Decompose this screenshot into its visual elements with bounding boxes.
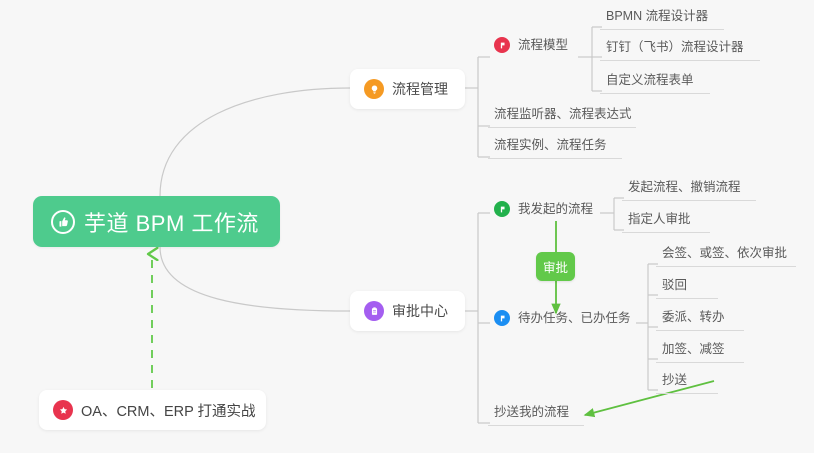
branch-node-shenpi-zhongxin[interactable]: 审批中心 (350, 291, 465, 331)
leaf-start-cancel-process[interactable]: 发起流程、撤销流程 (622, 180, 756, 201)
note-label-oa-crm-erp: OA、CRM、ERP 打通实战 (81, 400, 256, 421)
flag-icon (494, 201, 510, 217)
leaf-label-add-remove-sign: 加签、减签 (662, 343, 725, 357)
leaf-label-bpmn-designer: BPMN 流程设计器 (606, 10, 708, 24)
flag-icon (494, 37, 510, 53)
lightbulb-icon (364, 79, 384, 99)
leaf-liucheng-moxing[interactable]: 流程模型 (492, 41, 574, 58)
leaf-my-started-process[interactable]: 我发起的流程 (492, 205, 599, 222)
root-label: 芋道 BPM 工作流 (84, 206, 259, 238)
leaf-label-listener-expression: 流程监听器、流程表达式 (494, 108, 632, 122)
leaf-reject[interactable]: 驳回 (656, 278, 718, 299)
thumbs-up-icon (51, 210, 75, 234)
leaf-dingding-feishu-designer[interactable]: 钉钉（飞书）流程设计器 (600, 39, 760, 61)
leaf-label-custom-process-form: 自定义流程表单 (606, 74, 694, 88)
leaf-cc-my-process[interactable]: 抄送我的流程 (488, 405, 584, 426)
leaf-cc[interactable]: 抄送 (656, 373, 718, 394)
note-node-oa-crm-erp[interactable]: OA、CRM、ERP 打通实战 (39, 390, 266, 430)
leaf-add-remove-sign[interactable]: 加签、减签 (656, 342, 744, 363)
leaf-label-delegate-transfer: 委派、转办 (662, 311, 725, 325)
mindmap-canvas: 芋道 BPM 工作流 流程管理 流程模型 BPMN 流程设计器 钉钉（飞书）流程… (0, 0, 814, 453)
leaf-todo-done-task[interactable]: 待办任务、已办任务 (492, 314, 637, 331)
branch-label-liucheng-guanli: 流程管理 (392, 79, 448, 99)
leaf-label-cc: 抄送 (662, 374, 687, 388)
leaf-custom-process-form[interactable]: 自定义流程表单 (600, 72, 710, 94)
branch-label-shenpi-zhongxin: 审批中心 (392, 301, 448, 321)
wire-root-to-liucheng-guanli (160, 88, 350, 196)
clipboard-icon (364, 301, 384, 321)
leaf-label-cc-my-process: 抄送我的流程 (494, 406, 569, 420)
flag-icon (494, 310, 510, 326)
leaf-listener-expression[interactable]: 流程监听器、流程表达式 (488, 106, 636, 128)
leaf-label-dingding-feishu-designer: 钉钉（飞书）流程设计器 (606, 41, 744, 55)
leaf-label-start-cancel-process: 发起流程、撤销流程 (628, 181, 741, 195)
root-node[interactable]: 芋道 BPM 工作流 (33, 196, 280, 247)
leaf-countersign[interactable]: 会签、或签、依次审批 (656, 246, 796, 267)
approval-pill-label: 审批 (543, 257, 568, 276)
leaf-assignee-approval[interactable]: 指定人审批 (622, 212, 710, 233)
leaf-delegate-transfer[interactable]: 委派、转办 (656, 310, 744, 331)
leaf-instance-task[interactable]: 流程实例、流程任务 (488, 137, 622, 159)
leaf-label-countersign: 会签、或签、依次审批 (662, 247, 787, 261)
leaf-label-assignee-approval: 指定人审批 (628, 213, 691, 227)
leaf-label-liucheng-moxing: 流程模型 (518, 39, 568, 53)
branch-node-liucheng-guanli[interactable]: 流程管理 (350, 69, 465, 109)
leaf-label-todo-done-task: 待办任务、已办任务 (518, 312, 631, 326)
leaf-label-my-started-process: 我发起的流程 (518, 203, 593, 217)
leaf-label-reject: 驳回 (662, 279, 687, 293)
approval-pill[interactable]: 审批 (536, 252, 575, 281)
leaf-label-instance-task: 流程实例、流程任务 (494, 139, 607, 153)
wire-root-to-shenpi-zhongxin (160, 247, 350, 311)
leaf-bpmn-designer[interactable]: BPMN 流程设计器 (600, 8, 724, 30)
star-icon (53, 400, 73, 420)
